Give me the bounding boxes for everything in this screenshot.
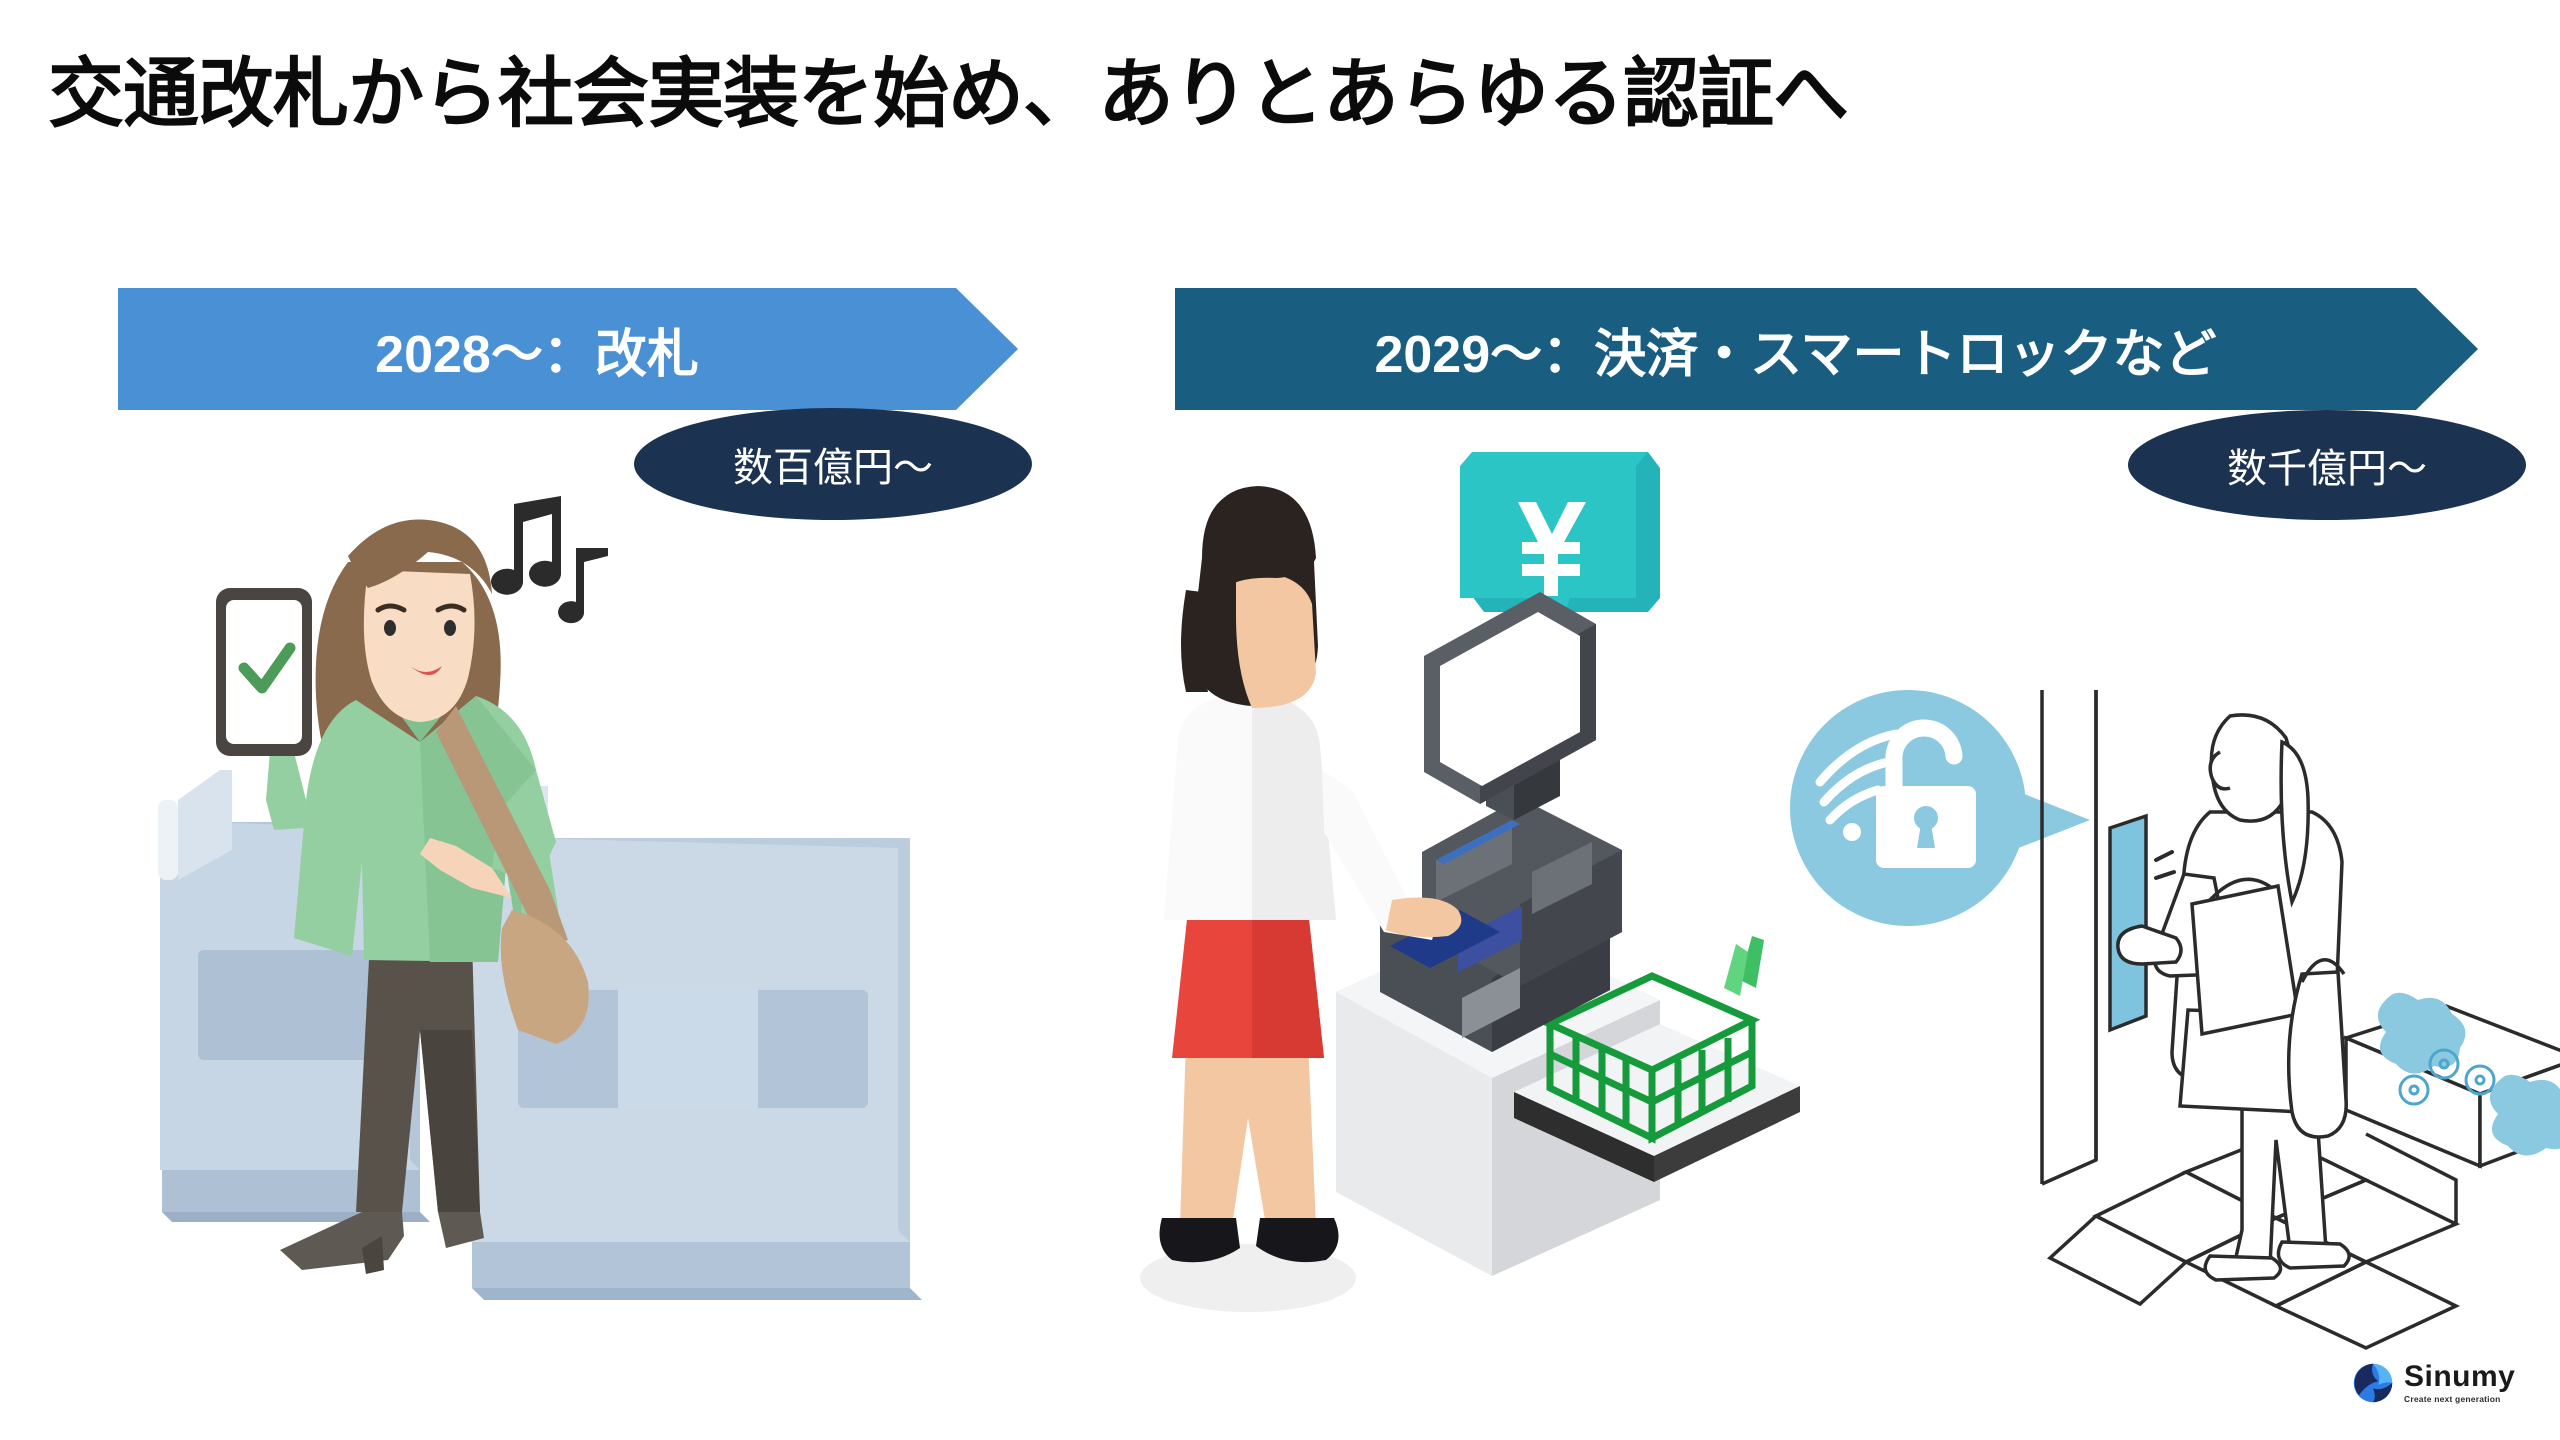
tap-effect-icon (2156, 852, 2174, 878)
entrance-door (2042, 690, 2096, 1184)
phase-2-value-badge: 数千億円〜 (2128, 410, 2526, 520)
phase-2-banner: 2029〜：決済・スマートロックなど (1175, 288, 2478, 410)
phase-1-value-label: 数百億円〜 (733, 435, 933, 493)
music-note-icon (491, 496, 608, 623)
phase-2-banner-label: 2029〜：決済・スマートロックなど (1374, 312, 2216, 387)
smart-lock-illustration (1790, 690, 2560, 1350)
phase-2-value-label: 数千億円〜 (2227, 436, 2427, 494)
page-title: 交通改札から社会実装を始め、ありとあらゆる認証へ (48, 32, 1848, 142)
unlock-badge (1790, 690, 2090, 926)
phase-1-value-badge: 数百億円〜 (634, 408, 1032, 520)
logo-tagline: Create next generation (2404, 1395, 2515, 1404)
brand-logo: Sinumy Create next generation (2352, 1362, 2515, 1404)
logo-name: Sinumy (2404, 1362, 2515, 1392)
pos-terminal (1380, 592, 1622, 1052)
phase-1-banner-label: 2028〜：改札 (375, 312, 699, 387)
sinumy-swirl-icon (2352, 1362, 2394, 1404)
self-checkout-illustration (1140, 440, 1840, 1340)
smart-lock-reader (2110, 816, 2146, 1030)
ticket-gate-illustration (120, 470, 1000, 1330)
phase-1-banner: 2028〜：改札 (118, 288, 1018, 410)
